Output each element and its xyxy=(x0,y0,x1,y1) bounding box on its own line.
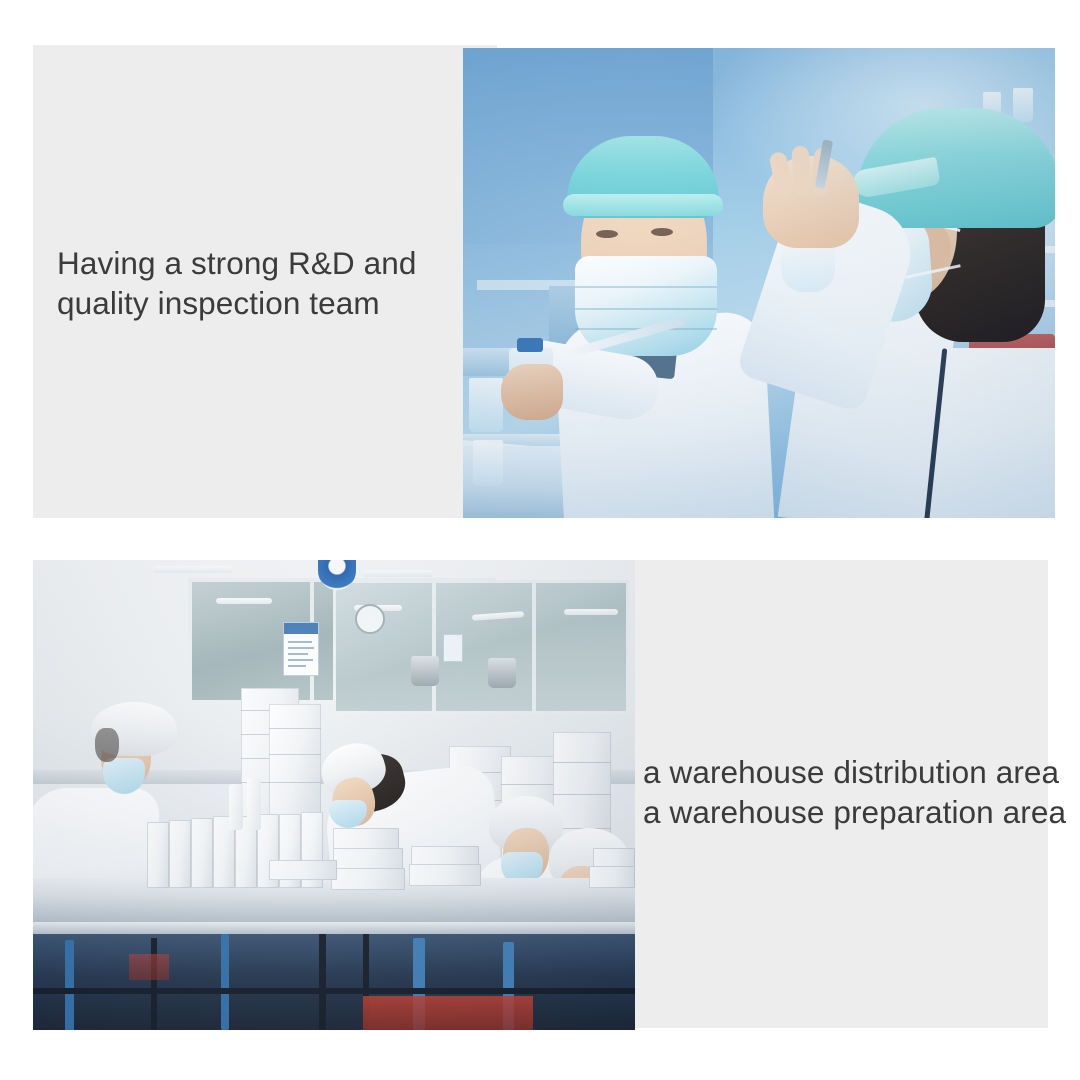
lab-beaker xyxy=(469,378,503,432)
wall-label-small xyxy=(443,634,463,662)
warehouse-caption-line-1: a warehouse distribution area xyxy=(643,752,1043,792)
warehouse-caption: a warehouse distribution area a warehous… xyxy=(643,752,1043,832)
wall-notice-board xyxy=(283,622,319,676)
lab-finger-2 xyxy=(791,145,811,196)
table-understructure xyxy=(33,934,635,1030)
rnd-caption: Having a strong R&D and quality inspecti… xyxy=(57,243,477,323)
carton-3 xyxy=(191,818,213,888)
metal-container-1 xyxy=(411,656,439,686)
carton-flat-2 xyxy=(333,848,403,870)
poster-canvas: Having a strong R&D and quality inspecti… xyxy=(0,0,1080,1080)
warehouse-window-right xyxy=(333,580,629,714)
product-tube-2 xyxy=(247,778,261,830)
carton-flat-7 xyxy=(593,848,635,868)
rnd-caption-line-2: quality inspection team xyxy=(57,283,477,323)
wall-clock xyxy=(355,604,385,634)
carton-flat-6 xyxy=(409,864,481,886)
lab-beaker-2 xyxy=(473,440,503,486)
warehouse-packing-line-photo xyxy=(33,560,635,1030)
lab-bottle-1 xyxy=(1013,88,1033,122)
carton-flat-8 xyxy=(589,866,635,888)
warehouse-caption-line-2: a warehouse preparation area xyxy=(643,792,1043,832)
rnd-caption-line-1: Having a strong R&D and xyxy=(57,243,477,283)
carton-flat-1 xyxy=(333,828,399,850)
carton-flat-5 xyxy=(411,846,479,866)
lab-worker-left-hairnet-brim xyxy=(563,194,723,216)
laboratory-quality-inspection-photo xyxy=(463,48,1055,518)
lab-sample-bottle-cap xyxy=(517,338,543,352)
lab-worker-left-eye-right xyxy=(651,228,673,236)
stainless-steel-table-edge xyxy=(33,922,635,934)
carton-flat-4 xyxy=(269,860,337,880)
lab-worker-left-eye-left xyxy=(596,230,618,238)
carton-2 xyxy=(169,820,191,888)
carton-flat-3 xyxy=(331,868,405,890)
metal-container-2 xyxy=(488,658,516,688)
carton-1 xyxy=(147,822,169,888)
ceiling-light-2 xyxy=(363,570,433,577)
ceiling-light-1 xyxy=(153,566,233,573)
product-tube-1 xyxy=(229,784,243,830)
lab-gloved-hand-lower xyxy=(501,364,563,420)
